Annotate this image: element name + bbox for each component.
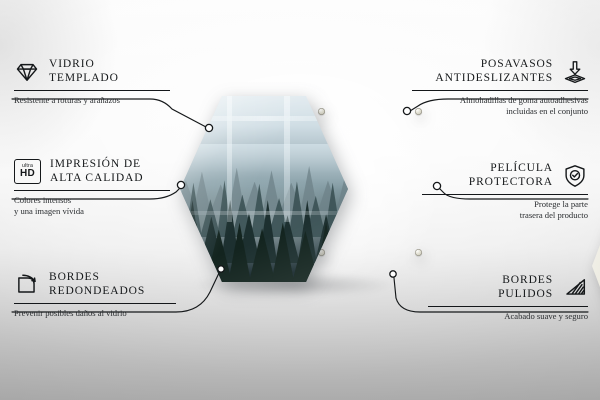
feature-title: POSAVASOS ANTIDESLIZANTES	[435, 58, 553, 85]
feature-title: IMPRESIÓN DE ALTA CALIDAD	[50, 158, 143, 185]
badge-hd-label: HD	[20, 169, 35, 179]
feature-bordes-pulidos: BORDES PULIDOS Acabado suave y seguro	[428, 274, 588, 322]
connector-dot-bordes-redondeados	[218, 266, 224, 272]
connector-dot-vidrio-templado	[205, 124, 212, 131]
rounded-corner-icon	[14, 272, 40, 298]
feature-title: BORDES PULIDOS	[498, 274, 553, 301]
feature-header: POSAVASOS ANTIDESLIZANTES	[412, 58, 588, 85]
feature-title: PELÍCULA PROTECTORA	[469, 162, 553, 189]
shield-check-icon	[562, 163, 588, 189]
feature-pelicula-protectora: PELÍCULA PROTECTORA Protege la parte tra…	[422, 162, 588, 220]
connector-dot-posavasos	[403, 107, 410, 114]
ultra-hd-badge-icon: ultra HD	[14, 159, 41, 184]
feature-subtitle: Almohadillas de goma autoadhesivas inclu…	[412, 95, 588, 116]
hatched-edge-icon	[562, 275, 588, 301]
feature-posavasos-antideslizantes: POSAVASOS ANTIDESLIZANTES Almohadillas d…	[412, 58, 588, 116]
feature-header: BORDES PULIDOS	[428, 274, 588, 301]
feature-subtitle: Resistente a roturas y arañazos	[14, 95, 170, 106]
feature-rule	[422, 194, 588, 195]
feature-header: BORDES REDONDEADOS	[14, 271, 176, 298]
feature-rule	[412, 90, 588, 91]
feature-header: ultra HD IMPRESIÓN DE ALTA CALIDAD	[14, 158, 170, 185]
press-pad-icon	[562, 59, 588, 85]
feature-subtitle: Prevenir posibles daños al vidrio	[14, 308, 176, 319]
feature-header: PELÍCULA PROTECTORA	[422, 162, 588, 189]
product-infographic: VIDRIO TEMPLADO Resistente a roturas y a…	[0, 0, 600, 400]
feature-impresion-alta-calidad: ultra HD IMPRESIÓN DE ALTA CALIDAD Color…	[14, 158, 170, 216]
feature-header: VIDRIO TEMPLADO	[14, 58, 170, 85]
feature-title: BORDES REDONDEADOS	[49, 271, 145, 298]
feature-title: VIDRIO TEMPLADO	[49, 58, 119, 85]
feature-vidrio-templado: VIDRIO TEMPLADO Resistente a roturas y a…	[14, 58, 170, 106]
feature-subtitle: Acabado suave y seguro	[428, 311, 588, 322]
feature-subtitle: Protege la parte trasera del producto	[422, 199, 588, 220]
feature-rule	[14, 190, 170, 191]
feature-rule	[14, 303, 176, 304]
feature-rule	[428, 306, 588, 307]
feature-subtitle: Colores intensos y una imagen vívida	[14, 195, 170, 216]
feature-rule	[14, 90, 170, 91]
feature-bordes-redondeados: BORDES REDONDEADOS Prevenir posibles dañ…	[14, 271, 176, 319]
diamond-icon	[14, 59, 40, 85]
connector-dot-impresion	[177, 181, 184, 188]
connector-dot-bordes-pulidos	[390, 271, 396, 277]
